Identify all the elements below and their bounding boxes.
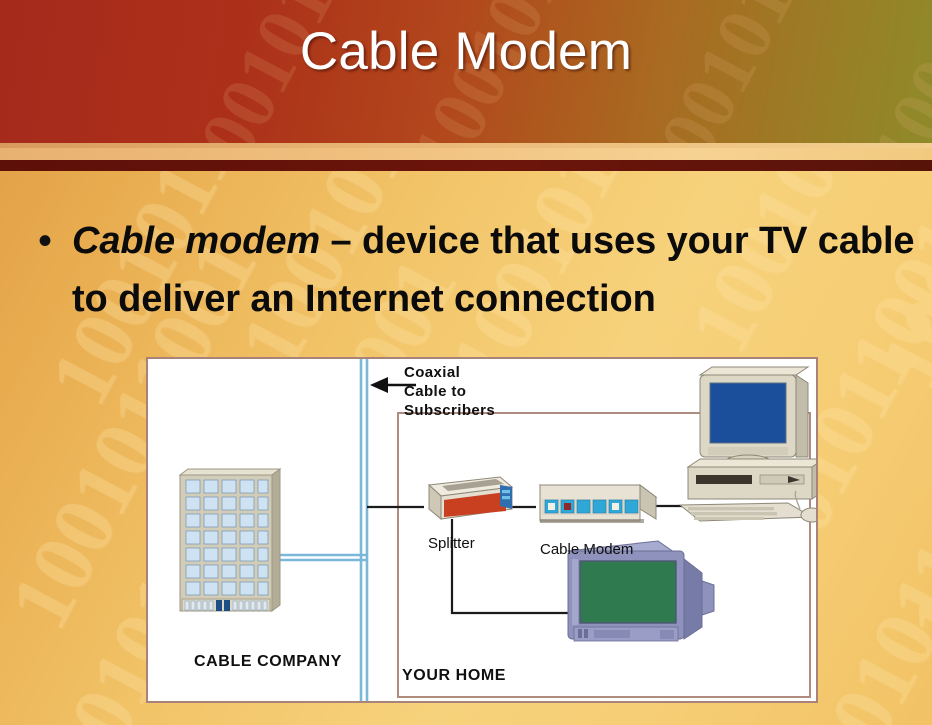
bullet-item-text: Cable modem – device that uses your TV c…: [72, 212, 930, 328]
label-your-home: YOUR HOME: [402, 667, 506, 685]
coaxial-cable-vertical: [361, 359, 367, 701]
slide-header: 1001011001 1001011001 1001011001 1001011…: [0, 0, 932, 143]
separator-band-maroon: [0, 160, 932, 171]
label-coaxial-cable: Coaxial Cable to Subscribers: [404, 363, 495, 420]
page-title: Cable Modem: [0, 22, 932, 82]
cable-modem-device: [540, 485, 656, 523]
bullet-term: Cable modem: [72, 220, 320, 262]
label-coaxial-line-3: Subscribers: [404, 401, 495, 420]
network-diagram: Coaxial Cable to Subscribers Splitter Ca…: [146, 357, 818, 703]
label-cable-modem: Cable Modem: [540, 541, 633, 558]
cable-company-building: [180, 469, 280, 611]
label-splitter: Splitter: [428, 535, 475, 552]
coaxial-cable-from-company: [278, 555, 367, 560]
bullet-list: • Cable modem – device that uses your TV…: [30, 212, 930, 328]
bullet-item: • Cable modem – device that uses your TV…: [30, 212, 930, 328]
separator-band-gold: [0, 148, 932, 160]
label-cable-company: CABLE COMPANY: [194, 653, 342, 671]
label-coaxial-line-2: Cable to: [404, 382, 495, 401]
wire-splitter-to-tv: [452, 519, 568, 613]
slide: 1001011001 1001011001 1001011001 1001011…: [0, 0, 932, 725]
label-coaxial-line-1: Coaxial: [404, 363, 495, 382]
bullet-marker-icon: •: [30, 212, 72, 270]
splitter-device: [429, 477, 512, 519]
desktop-computer: [680, 367, 816, 522]
